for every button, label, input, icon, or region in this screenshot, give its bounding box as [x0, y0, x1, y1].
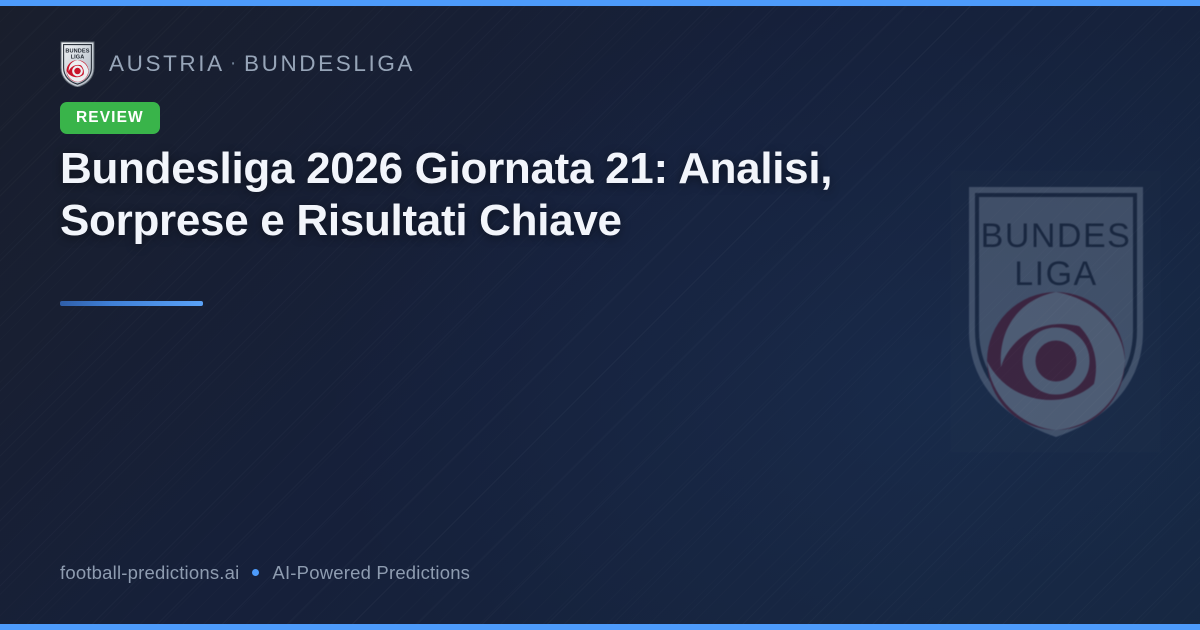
breadcrumb-separator: ·: [225, 52, 244, 74]
breadcrumb-league: BUNDESLIGA: [244, 51, 415, 76]
page-title: Bundesliga 2026 Giornata 21: Analisi, So…: [60, 143, 1020, 247]
breadcrumb-country: AUSTRIA: [109, 51, 225, 76]
breadcrumb-text: AUSTRIA·BUNDESLIGA: [109, 53, 415, 76]
svg-text:LIGA: LIGA: [71, 54, 85, 60]
footer-tagline: AI-Powered Predictions: [272, 564, 470, 583]
dot-separator-icon: [252, 569, 259, 576]
content-area: BUNDES LIGA AUSTRIA·BUNDESLIGA REVIEW B: [60, 0, 1140, 630]
top-accent-bar: [0, 0, 1200, 6]
footer: football-predictions.ai AI-Powered Predi…: [60, 564, 470, 583]
footer-site: football-predictions.ai: [60, 564, 239, 583]
bundesliga-shield-icon: BUNDES LIGA: [60, 41, 95, 87]
breadcrumb: BUNDES LIGA AUSTRIA·BUNDESLIGA: [60, 41, 415, 87]
bottom-accent-bar: [0, 624, 1200, 630]
title-accent-rule: [60, 301, 203, 306]
og-card: BUNDES LIGA: [0, 0, 1200, 630]
status-badge: REVIEW: [60, 102, 160, 134]
